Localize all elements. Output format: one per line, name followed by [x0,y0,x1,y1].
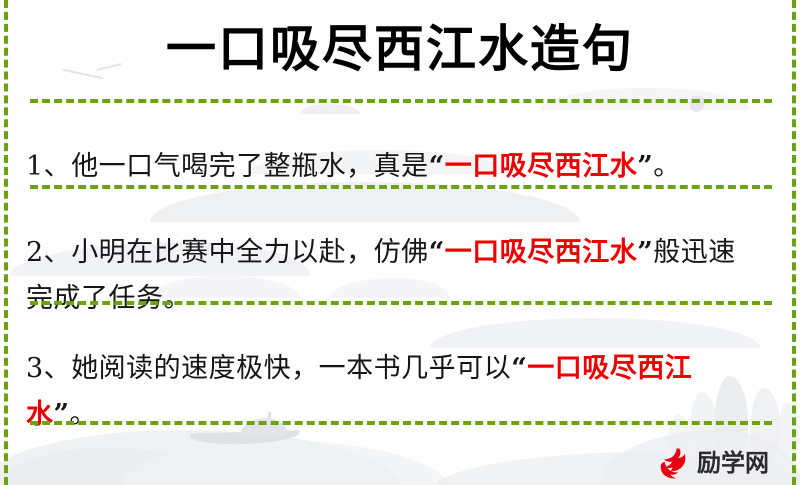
watermark-logo: 励学网 [652,441,792,485]
dashed-separator-2 [30,185,772,189]
dashed-separator-1 [30,99,772,103]
sentence-1-idiom: 一口吸尽西江水 [445,151,638,182]
sentence-2-number: 2、 [26,237,71,268]
sentence-3-text-before: 她阅读的速度极快，一本书几乎可以 [71,353,511,384]
slide-page: 一口吸尽西江水造句 1、他一口气喝完了整瓶水，真是“一口吸尽西江水”。 2、小明… [0,0,800,485]
page-title: 一口吸尽西江水造句 [0,14,800,84]
dashed-border-right [792,0,796,485]
flame-swirl-logo-icon [652,443,692,483]
sentence-2-idiom: 一口吸尽西江水 [445,237,638,268]
watermark-text: 励学网 [697,450,769,476]
sentence-2-open-quote: “ [429,237,445,268]
sentence-3-text-after: 。 [70,399,98,430]
sentence-3-close-quote: ” [54,399,70,430]
mountain-ridge-left [0,430,400,485]
sentence-1-text-before: 他一口气喝完了整瓶水，真是 [71,151,429,182]
sentence-1-close-quote: ” [637,151,653,182]
sentence-3-open-quote: “ [511,353,527,384]
dashed-separator-3 [30,301,772,305]
dashed-separator-4 [30,421,772,425]
sentence-2-text-before: 小明在比赛中全力以赴，仿佛 [71,237,429,268]
list-item-sentence-2: 2、小明在比赛中全力以赴，仿佛“一口吸尽西江水”般迅速完成了任务。 [26,230,760,322]
sentence-1-open-quote: “ [429,151,445,182]
dashed-border-left [4,0,8,485]
sentence-1-text-after: 。 [653,151,681,182]
ink-smudge-upper [300,104,360,114]
sentence-2-close-quote: ” [637,237,653,268]
mountain-ridge-mid [120,440,450,485]
cloud-band-e [430,318,760,348]
list-item-sentence-1: 1、他一口气喝完了整瓶水，真是“一口吸尽西江水”。 [26,144,760,190]
sentence-3-number: 3、 [26,353,71,384]
sentence-1-number: 1、 [26,151,71,182]
mountain-ridge-far [0,448,250,485]
